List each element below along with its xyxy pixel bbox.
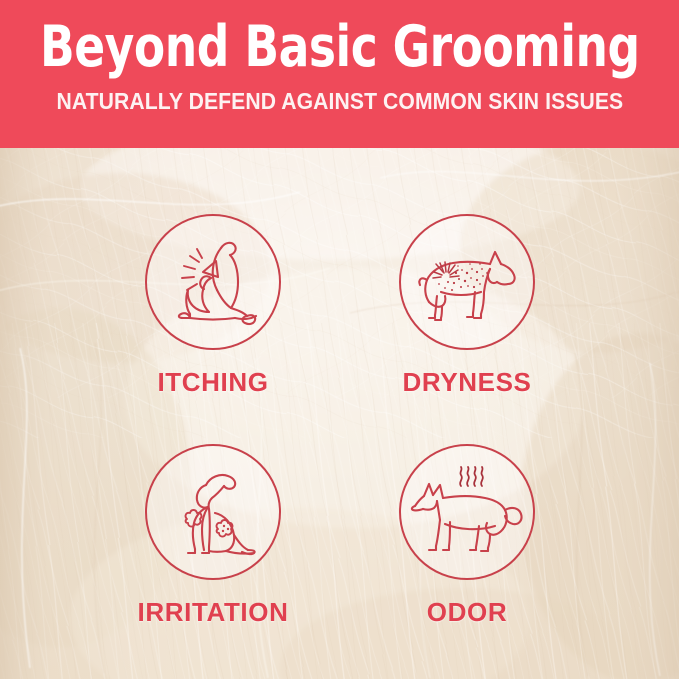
dog-irritated-patches-icon	[158, 457, 268, 567]
header-banner: Beyond Basic Grooming NATURALLY DEFEND A…	[0, 0, 679, 148]
page-subtitle: NATURALLY DEFEND AGAINST COMMON SKIN ISS…	[56, 88, 623, 114]
feature-label-irritation: IRRITATION	[138, 597, 289, 627]
dog-flaky-skin-icon	[411, 226, 523, 338]
dog-scratching-icon	[159, 228, 267, 336]
icon-circle-dryness	[399, 214, 535, 350]
feature-item-dryness[interactable]: DRYNESS	[340, 214, 594, 462]
feature-item-irritation[interactable]: IRRITATION	[86, 444, 340, 679]
irritation-dots	[222, 525, 229, 532]
grooming-infographic: Beyond Basic Grooming NATURALLY DEFEND A…	[0, 0, 679, 679]
dog-odor-icon	[409, 454, 525, 570]
page-title: Beyond Basic Grooming	[40, 16, 640, 78]
odor-wave-lines	[460, 467, 483, 486]
scratch-motion-lines	[182, 249, 202, 290]
icon-circle-irritation	[145, 444, 281, 580]
feature-label-dryness: DRYNESS	[403, 367, 532, 397]
feature-grid: ITCHING	[0, 148, 679, 679]
icon-circle-odor	[399, 444, 535, 580]
feature-label-odor: ODOR	[427, 597, 507, 627]
feature-item-itching[interactable]: ITCHING	[86, 214, 340, 462]
icon-circle-itching	[145, 214, 281, 350]
feature-item-odor[interactable]: ODOR	[340, 444, 594, 679]
feature-label-itching: ITCHING	[157, 367, 268, 397]
